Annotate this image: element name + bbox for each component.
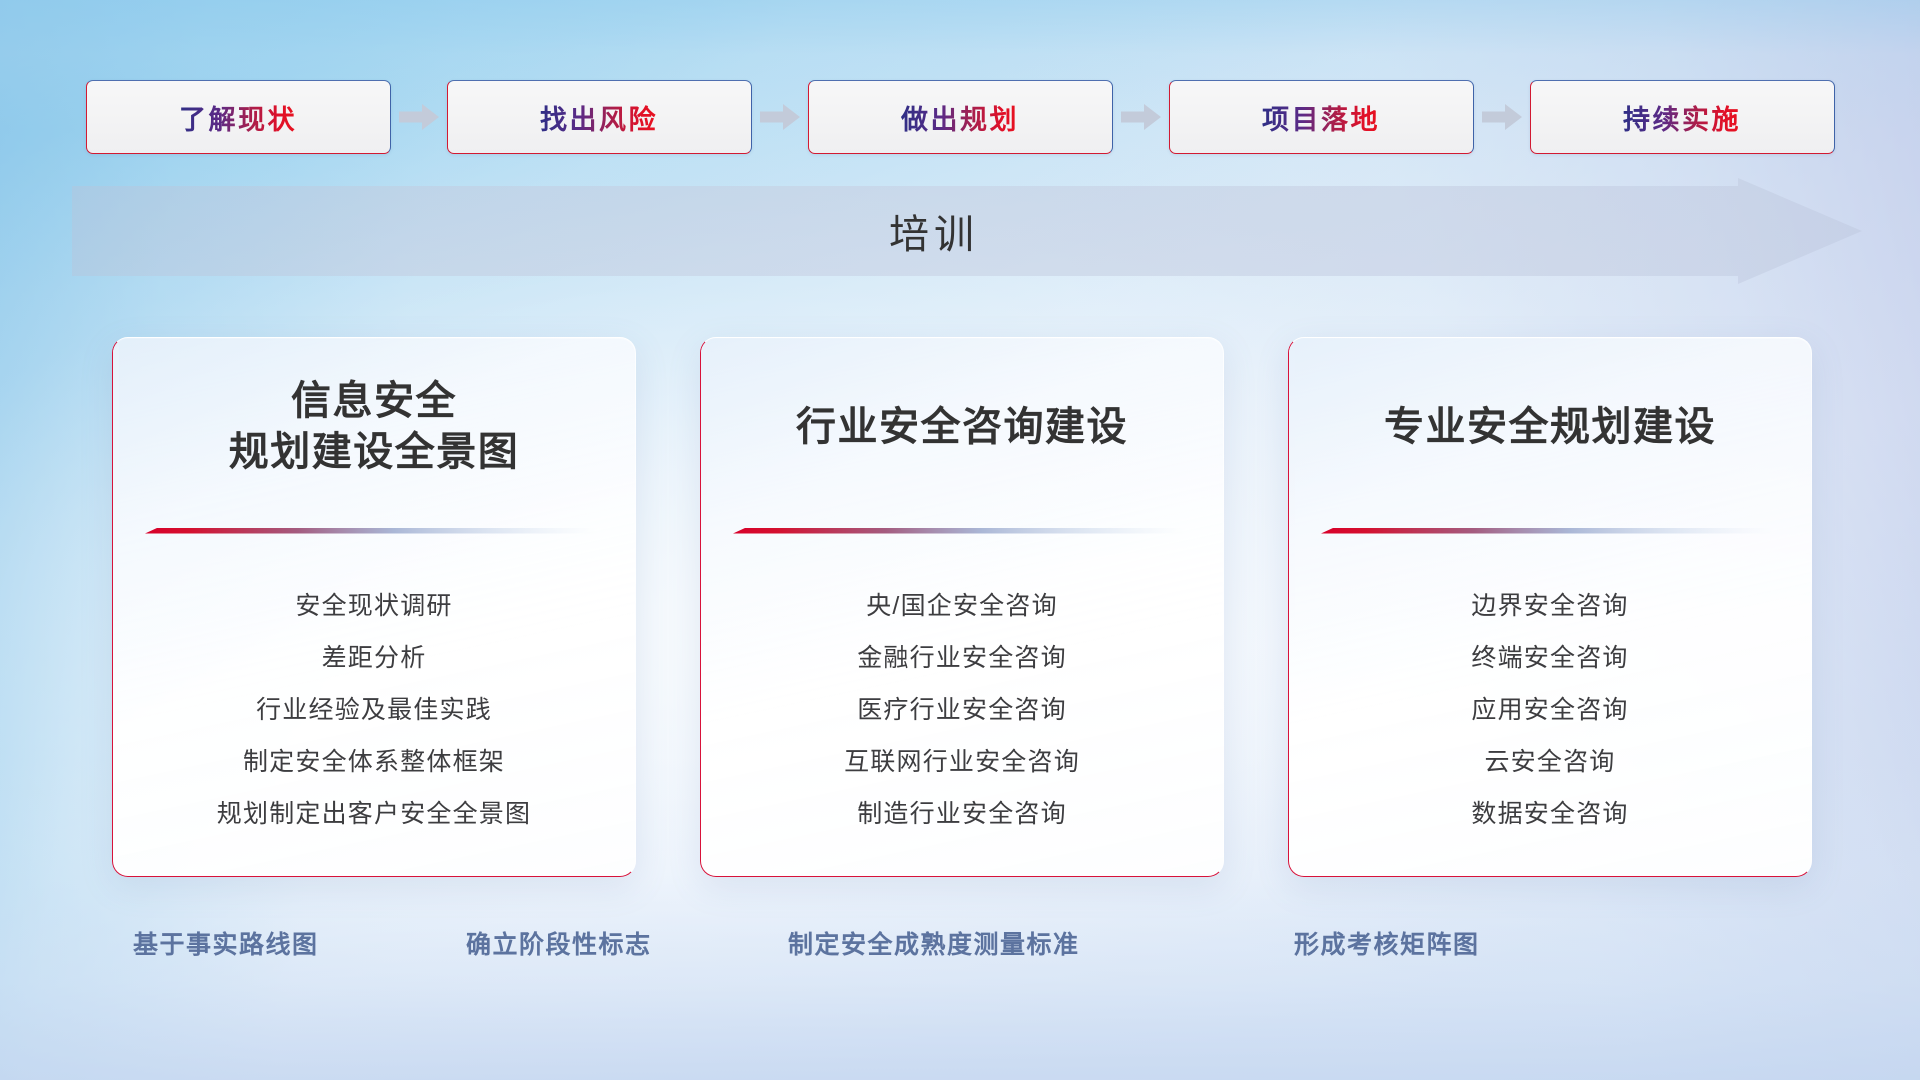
list-item: 互联网行业安全咨询 [844, 736, 1080, 788]
training-banner: 培训 [72, 178, 1862, 284]
footer-captions: 基于事实路线图 确立阶段性标志 制定安全成熟度测量标准 形成考核矩阵图 [0, 925, 1920, 975]
step-box-1[interactable]: 了解现状 [86, 80, 391, 154]
card-list-2: 央/国企安全咨询 金融行业安全咨询 医疗行业安全咨询 互联网行业安全咨询 制造行… [701, 538, 1223, 876]
slide-canvas: 了解现状 找出风险 做出规划 项目落地 [0, 0, 1920, 1080]
list-item: 医疗行业安全咨询 [857, 684, 1067, 736]
card-header-3: 专业安全规划建设 [1289, 338, 1811, 516]
list-item: 差距分析 [322, 632, 427, 684]
service-cards: 信息安全 规划建设全景图 [112, 337, 1812, 877]
list-item: 制定安全体系整体框架 [243, 736, 505, 788]
card-industry-security-consulting[interactable]: 行业安全咨询建设 [700, 337, 1224, 877]
arrow-right-icon-3 [1113, 104, 1169, 130]
list-item: 云安全咨询 [1484, 736, 1615, 788]
card-title-3: 专业安全规划建设 [1384, 402, 1716, 453]
card-list-1: 安全现状调研 差距分析 行业经验及最佳实践 制定安全体系整体框架 规划制定出客户… [113, 538, 635, 876]
list-item: 应用安全咨询 [1471, 684, 1628, 736]
step-box-5[interactable]: 持续实施 [1530, 80, 1835, 154]
card-header-1: 信息安全 规划建设全景图 [113, 338, 635, 516]
process-flow-steps: 了解现状 找出风险 做出规划 项目落地 [0, 80, 1920, 154]
card-header-2: 行业安全咨询建设 [701, 338, 1223, 516]
card-divider-2 [731, 528, 1185, 538]
caption-roadmap: 基于事实路线图 [133, 925, 319, 961]
caption-maturity: 制定安全成熟度测量标准 [788, 925, 1080, 961]
list-item: 行业经验及最佳实践 [256, 684, 492, 736]
training-banner-label: 培训 [72, 178, 1796, 284]
list-item: 边界安全咨询 [1471, 580, 1628, 632]
step-label-4: 项目落地 [1262, 98, 1380, 137]
list-item: 制造行业安全咨询 [857, 788, 1067, 840]
list-item: 安全现状调研 [295, 580, 452, 632]
arrow-right-icon-4 [1474, 104, 1530, 130]
card-divider-3 [1319, 528, 1773, 538]
list-item: 数据安全咨询 [1471, 788, 1628, 840]
card-professional-security-planning[interactable]: 专业安全规划建设 [1288, 337, 1812, 877]
card-divider-1 [143, 528, 597, 538]
card-title-2: 行业安全咨询建设 [796, 402, 1128, 453]
step-label-1: 了解现状 [179, 98, 297, 137]
arrow-right-icon-2 [752, 104, 808, 130]
card-information-security-blueprint[interactable]: 信息安全 规划建设全景图 [112, 337, 636, 877]
card-list-3: 边界安全咨询 终端安全咨询 应用安全咨询 云安全咨询 数据安全咨询 [1289, 538, 1811, 876]
step-box-4[interactable]: 项目落地 [1169, 80, 1474, 154]
list-item: 规划制定出客户安全全景图 [217, 788, 531, 840]
step-label-5: 持续实施 [1623, 98, 1741, 137]
step-label-3: 做出规划 [901, 98, 1019, 137]
list-item: 终端安全咨询 [1471, 632, 1628, 684]
step-box-2[interactable]: 找出风险 [447, 80, 752, 154]
caption-milestone: 确立阶段性标志 [466, 925, 652, 961]
caption-matrix: 形成考核矩阵图 [1294, 925, 1480, 961]
card-title-1: 信息安全 规划建设全景图 [229, 376, 520, 478]
step-label-2: 找出风险 [540, 98, 658, 137]
step-box-3[interactable]: 做出规划 [808, 80, 1113, 154]
list-item: 央/国企安全咨询 [866, 580, 1058, 632]
list-item: 金融行业安全咨询 [857, 632, 1067, 684]
arrow-right-icon-1 [391, 104, 447, 130]
